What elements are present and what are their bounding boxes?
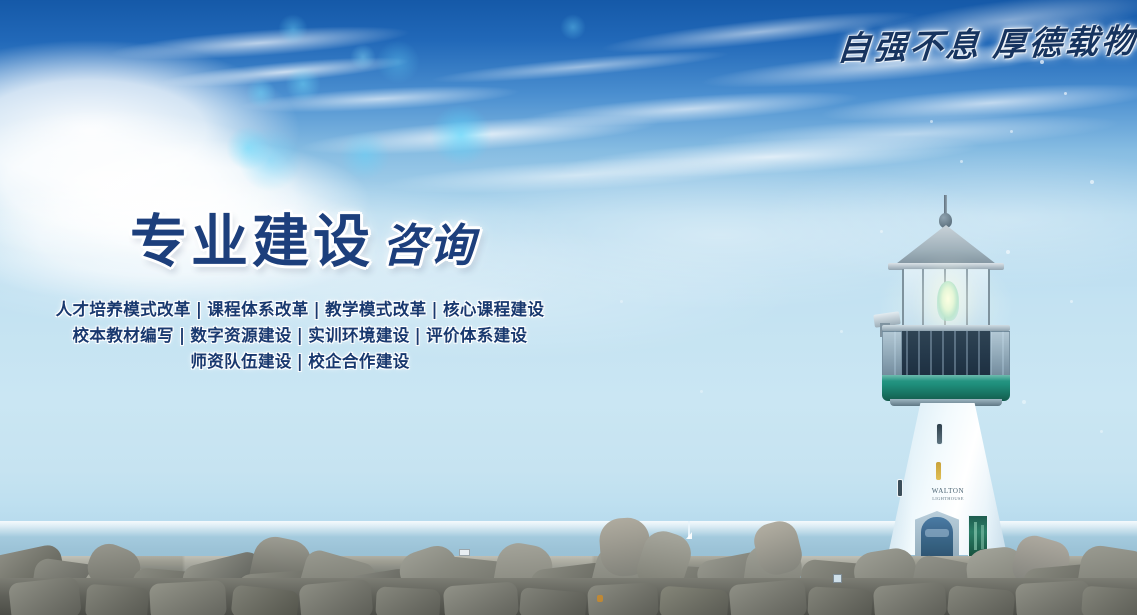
page-title: 专业建设咨询 xyxy=(130,196,476,278)
rock-chunk xyxy=(807,586,873,615)
rock-chunk xyxy=(1015,580,1091,615)
page-title-main: 专业建设 xyxy=(130,209,374,275)
lighthouse-name: WALTON xyxy=(932,487,964,495)
service-menu-row-1: 人才培养模式改革|课程体系改革|教学模式改革|核心课程建设 xyxy=(0,297,600,323)
rock-chunk xyxy=(8,576,82,615)
rock-chunk xyxy=(149,580,227,615)
menu-separator: | xyxy=(410,326,426,345)
marker-tag xyxy=(833,574,842,583)
lighthouse-window-amber xyxy=(935,461,942,481)
lighthouse-roof xyxy=(892,225,1000,267)
menu-item[interactable]: 课程体系改革 xyxy=(207,300,308,319)
menu-item[interactable]: 评价体系建设 xyxy=(426,326,527,345)
lighthouse-lamp xyxy=(937,281,959,321)
marker-tag xyxy=(459,549,470,556)
page-title-sub: 咨询 xyxy=(382,219,476,272)
menu-separator: | xyxy=(292,352,308,371)
rock-chunk xyxy=(1081,586,1137,615)
rock-chunk xyxy=(873,582,947,615)
rock-chunk xyxy=(443,581,519,615)
lighthouse: WALTON LIGHTHOUSE xyxy=(860,195,1035,570)
rock-chunk xyxy=(519,587,587,615)
menu-separator: | xyxy=(292,326,308,345)
lighthouse-name-plate: WALTON LIGHTHOUSE xyxy=(910,487,986,501)
calligraphy-motto: 自强不息 厚德载物 xyxy=(836,14,1137,70)
menu-separator: | xyxy=(191,300,207,319)
rock-chunk xyxy=(85,584,149,615)
menu-separator: | xyxy=(309,300,325,319)
lighthouse-gallery-glass-left xyxy=(882,331,902,377)
rock-chunk xyxy=(947,585,1016,615)
rock-chunk xyxy=(728,579,807,615)
menu-item[interactable]: 教学模式改革 xyxy=(325,300,426,319)
service-menu-row-2: 校本教材编写|数字资源建设|实训环境建设|评价体系建设 xyxy=(0,323,600,349)
lighthouse-green-band xyxy=(882,375,1010,401)
service-menu: 人才培养模式改革|课程体系改革|教学模式改革|核心课程建设 校本教材编写|数字资… xyxy=(0,297,600,375)
lighthouse-name-subtitle: LIGHTHOUSE xyxy=(910,496,986,502)
lighthouse-gallery-glass-right xyxy=(990,331,1010,377)
menu-item[interactable]: 人才培养模式改革 xyxy=(56,300,191,319)
menu-item[interactable]: 数字资源建设 xyxy=(190,326,291,345)
service-menu-row-3: 师资队伍建设|校企合作建设 xyxy=(0,349,600,375)
rock-chunk xyxy=(375,586,441,615)
menu-item[interactable]: 核心课程建设 xyxy=(443,300,544,319)
menu-item[interactable]: 校本教材编写 xyxy=(73,326,174,345)
rock-chunk xyxy=(298,579,373,615)
marker-dot xyxy=(597,595,603,602)
menu-separator: | xyxy=(427,300,443,319)
menu-separator: | xyxy=(174,326,190,345)
lighthouse-window-side xyxy=(897,479,903,497)
banner-hero: WALTON LIGHTHOUSE xyxy=(0,0,1137,615)
rock-chunk xyxy=(659,586,729,615)
menu-item[interactable]: 师资队伍建设 xyxy=(190,352,291,371)
menu-item[interactable]: 实训环境建设 xyxy=(308,326,409,345)
lighthouse-window-upper xyxy=(936,423,943,445)
menu-item[interactable]: 校企合作建设 xyxy=(308,352,409,371)
